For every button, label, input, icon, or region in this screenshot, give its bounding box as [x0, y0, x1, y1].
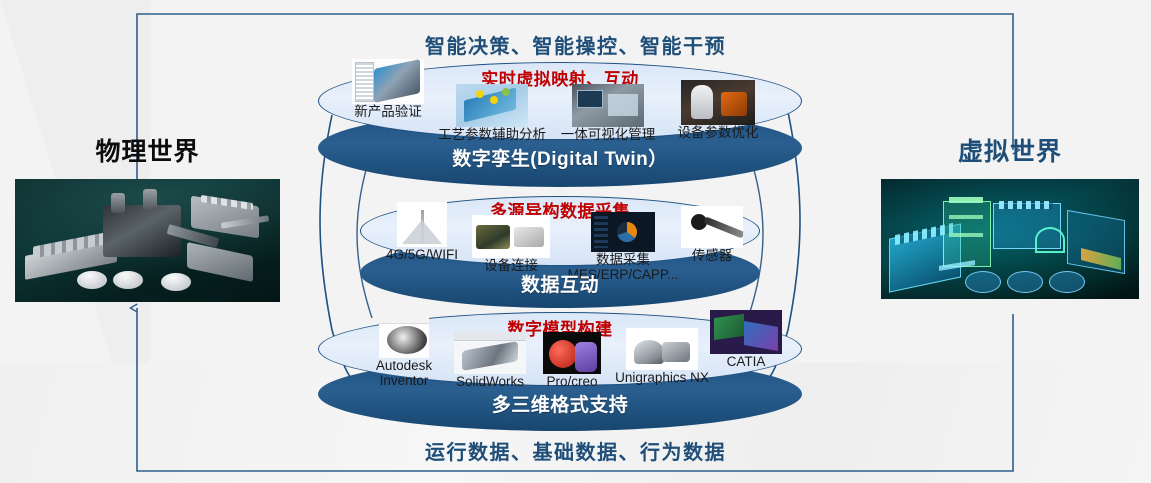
process-parameter-analysis-icon — [456, 84, 528, 127]
tier-item[interactable]: 新产品验证 — [336, 59, 440, 119]
headline-top: 智能决策、智能操控、智能干预 — [0, 30, 1151, 59]
virtual-world-image — [881, 179, 1139, 299]
tier-item[interactable]: Autodesk Inventor — [358, 314, 450, 388]
tier-band-label: 多三维格式支持 — [318, 390, 802, 417]
tier-band-label: 数据互动 — [360, 270, 760, 297]
tier-item-label: 一体可视化管理 — [550, 127, 666, 142]
tier-item-label: 设备参数优化 — [660, 125, 776, 140]
procreo-icon — [543, 332, 601, 374]
tier-data-acquisition[interactable]: 多源异构数据采集 4G/5G/WIFI 设备连接 数据采集 MES/ERP/CA… — [360, 196, 760, 308]
catia-icon — [710, 310, 782, 354]
tier-item-label: 4G/5G/WIFI — [372, 247, 472, 262]
tier-item-label: Autodesk Inventor — [358, 358, 450, 388]
diagram-canvas: 智能决策、智能操控、智能干预 实时虚拟映射、互动 新产品验证 工艺参数辅助分析 … — [0, 0, 1151, 483]
unigraphics-nx-icon — [626, 328, 698, 370]
tier-item-label: 工艺参数辅助分析 — [430, 127, 554, 142]
tier-item-label: Pro/creo — [530, 374, 614, 389]
equipment-connection-icon — [472, 215, 550, 258]
tier-item[interactable]: SolidWorks — [438, 332, 542, 389]
tier-item[interactable]: CATIA — [700, 310, 792, 369]
tier-item[interactable]: Pro/creo — [530, 332, 614, 389]
tier-item-label: 新产品验证 — [336, 104, 440, 119]
tier-item-label: SolidWorks — [438, 374, 542, 389]
headline-bottom: 运行数据、基础数据、行为数据 — [0, 436, 1151, 465]
tier-item[interactable]: 4G/5G/WIFI — [372, 202, 472, 262]
tier-item[interactable]: 设备连接 — [464, 215, 558, 273]
autodesk-inventor-icon — [379, 314, 429, 358]
virtual-world-label: 虚拟世界 — [876, 132, 1144, 168]
tier-item-label: CATIA — [700, 354, 792, 369]
equipment-parameter-optimization-icon — [681, 80, 755, 125]
network-tower-icon — [397, 202, 447, 247]
new-product-validation-icon — [352, 59, 424, 104]
solidworks-icon — [454, 332, 526, 374]
tier-item[interactable]: 传感器 — [672, 206, 752, 263]
physical-world-label: 物理世界 — [10, 132, 285, 168]
tier-item[interactable]: 设备参数优化 — [660, 80, 776, 140]
tier-band-label: 数字孪生(Digital Twin） — [318, 144, 802, 171]
physical-world-image — [15, 179, 280, 302]
tier-digital-model[interactable]: 数字模型构建 Autodesk Inventor SolidWorks Pro/… — [318, 312, 802, 430]
tier-item-label: Unigraphics NX — [604, 370, 720, 385]
virtual-world-block: 虚拟世界 — [876, 132, 1144, 299]
integrated-visual-management-icon — [572, 84, 644, 127]
tier-item[interactable]: 一体可视化管理 — [550, 84, 666, 142]
sensor-icon — [681, 206, 743, 248]
tier-digital-twin[interactable]: 实时虚拟映射、互动 新产品验证 工艺参数辅助分析 一体可视化管理 设备参数优化 … — [318, 62, 802, 187]
tier-item-label: 传感器 — [672, 248, 752, 263]
tier-item[interactable]: 工艺参数辅助分析 — [430, 84, 554, 142]
physical-world-block: 物理世界 — [10, 132, 285, 302]
data-collection-dashboard-icon — [591, 212, 655, 252]
